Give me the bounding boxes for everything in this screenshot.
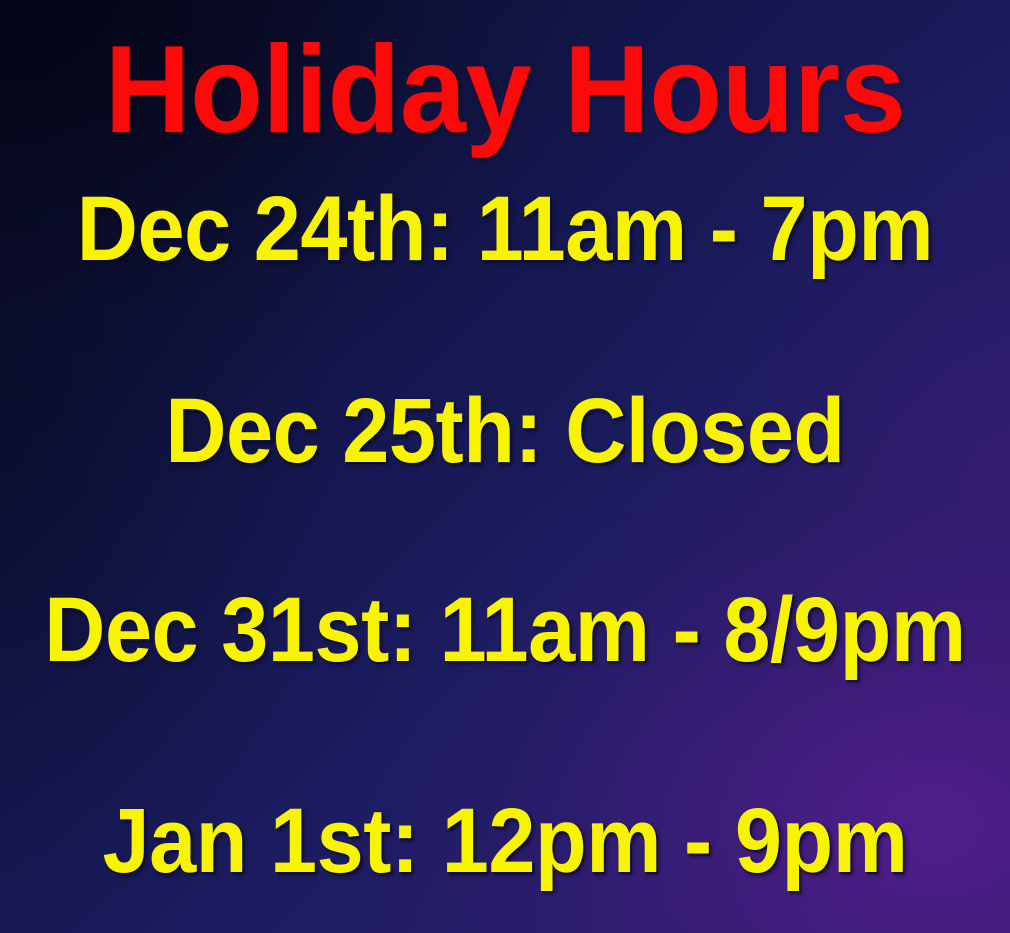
hours-line-dec-25: Dec 25th: Closed (40, 385, 969, 477)
holiday-hours-poster: Holiday Hours Dec 24th: 11am - 7pm Dec 2… (0, 0, 1010, 933)
hours-line-dec-31: Dec 31st: 11am - 8/9pm (40, 584, 969, 676)
hours-line-dec-24: Dec 24th: 11am - 7pm (40, 183, 969, 275)
poster-content: Holiday Hours Dec 24th: 11am - 7pm Dec 2… (0, 0, 1010, 933)
hours-line-jan-1: Jan 1st: 12pm - 9pm (40, 795, 969, 887)
page-title: Holiday Hours (20, 28, 990, 152)
